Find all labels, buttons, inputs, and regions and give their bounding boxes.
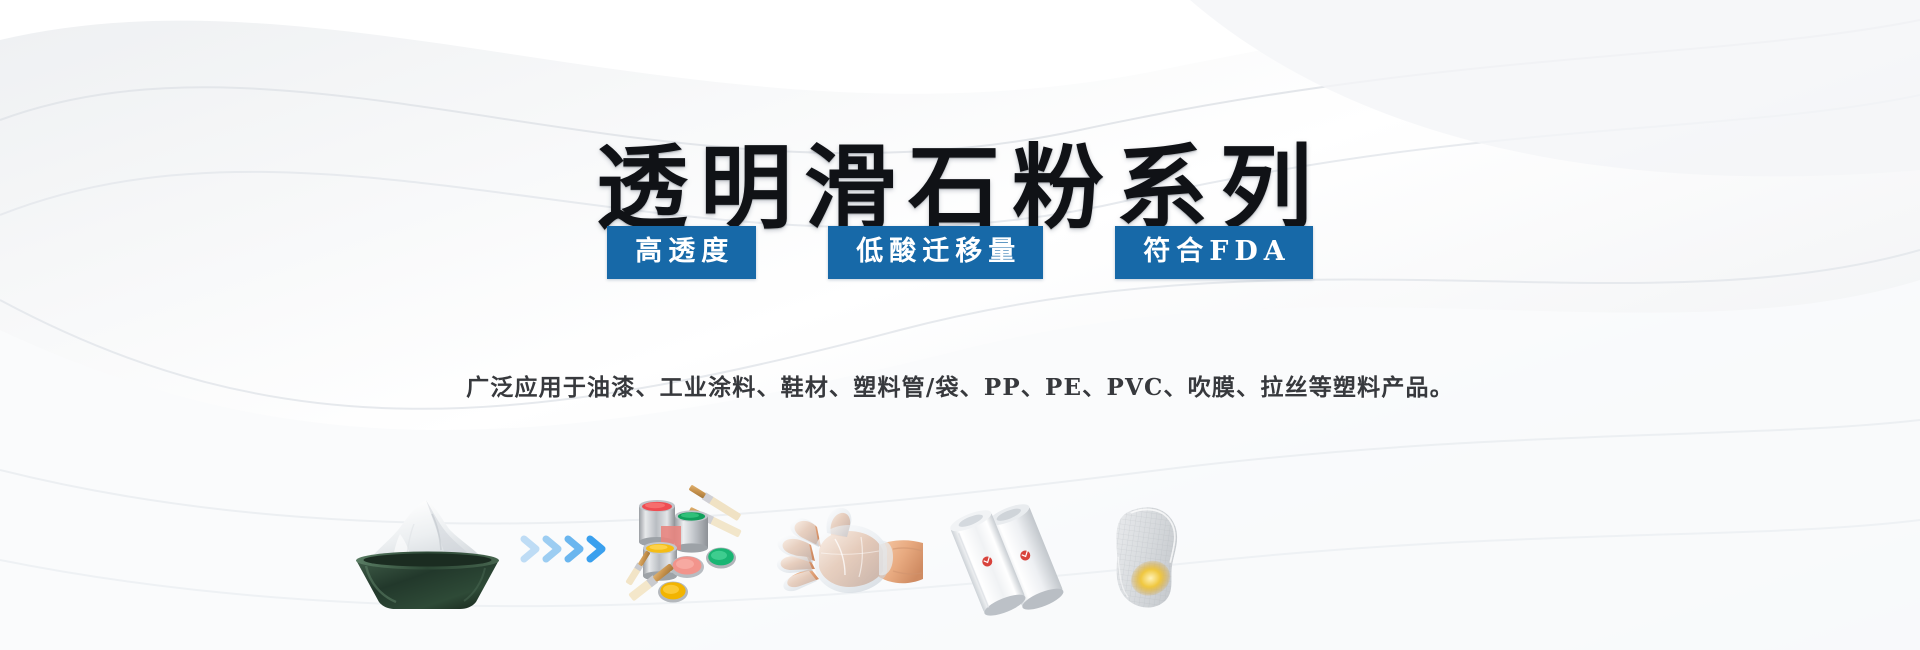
product-banner: 透明滑石粉系列 高透度 低酸迁移量 符合FDA 广泛应用于油漆、工业涂料、鞋材、…: [0, 0, 1920, 650]
badge-low-acid-migration[interactable]: 低酸迁移量: [828, 226, 1043, 279]
talc-powder-bowl-image: [340, 490, 515, 610]
feature-badge-row: 高透度 低酸迁移量 符合FDA: [0, 226, 1920, 279]
shoe-insole-image: [1090, 500, 1215, 610]
process-arrows-icon: [520, 530, 615, 568]
badge-high-transparency[interactable]: 高透度: [607, 226, 756, 279]
applications-subtitle: 广泛应用于油漆、工业涂料、鞋材、塑料管/袋、PP、PE、PVC、吹膜、拉丝等塑料…: [0, 368, 1920, 402]
paint-cans-image: [625, 482, 760, 610]
film-rolls-image: [940, 500, 1080, 610]
badge-fda-compliant[interactable]: 符合FDA: [1115, 226, 1313, 279]
product-image-strip: [0, 430, 1920, 610]
plastic-glove-image: [775, 505, 925, 610]
page-title: 透明滑石粉系列: [596, 140, 1324, 237]
